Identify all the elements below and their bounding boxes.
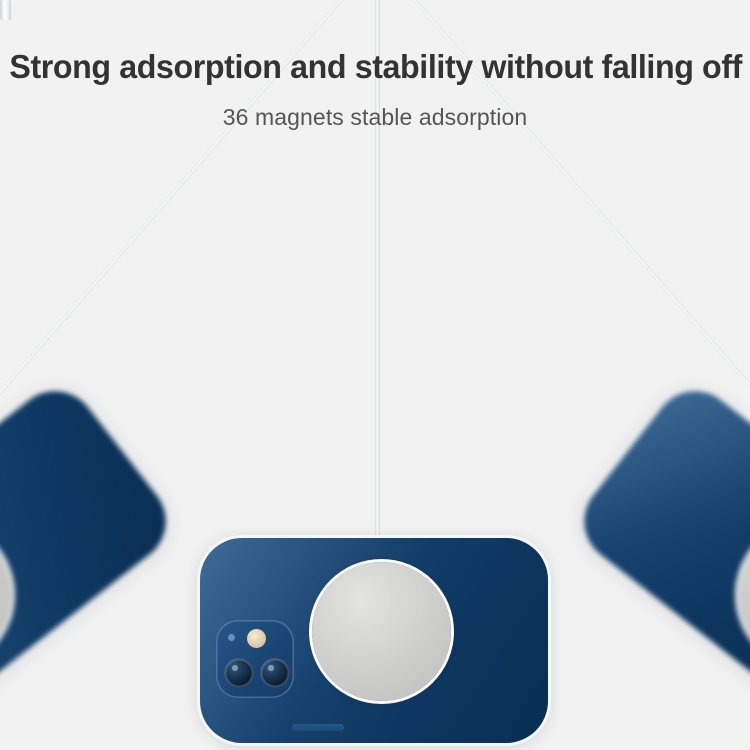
- phone-body-left: [0, 374, 183, 702]
- camera-sensor-dot: [228, 634, 235, 641]
- charger-disc-center: [312, 562, 451, 701]
- product-banner: Strong adsorption and stability without …: [0, 0, 750, 750]
- phone-side-band: [292, 724, 344, 731]
- cable-connector-collar: [0, 0, 11, 20]
- banner-headline: Strong adsorption and stability without …: [9, 48, 740, 86]
- camera-lens-wide: [224, 658, 254, 688]
- phone-body-right: [567, 374, 750, 702]
- camera-flash-icon: [247, 629, 266, 648]
- banner-subtitle: 36 magnets stable adsorption: [0, 104, 750, 131]
- camera-module: [216, 620, 294, 698]
- phone-unit-center: [200, 538, 548, 750]
- camera-lens-ultrawide: [260, 658, 290, 688]
